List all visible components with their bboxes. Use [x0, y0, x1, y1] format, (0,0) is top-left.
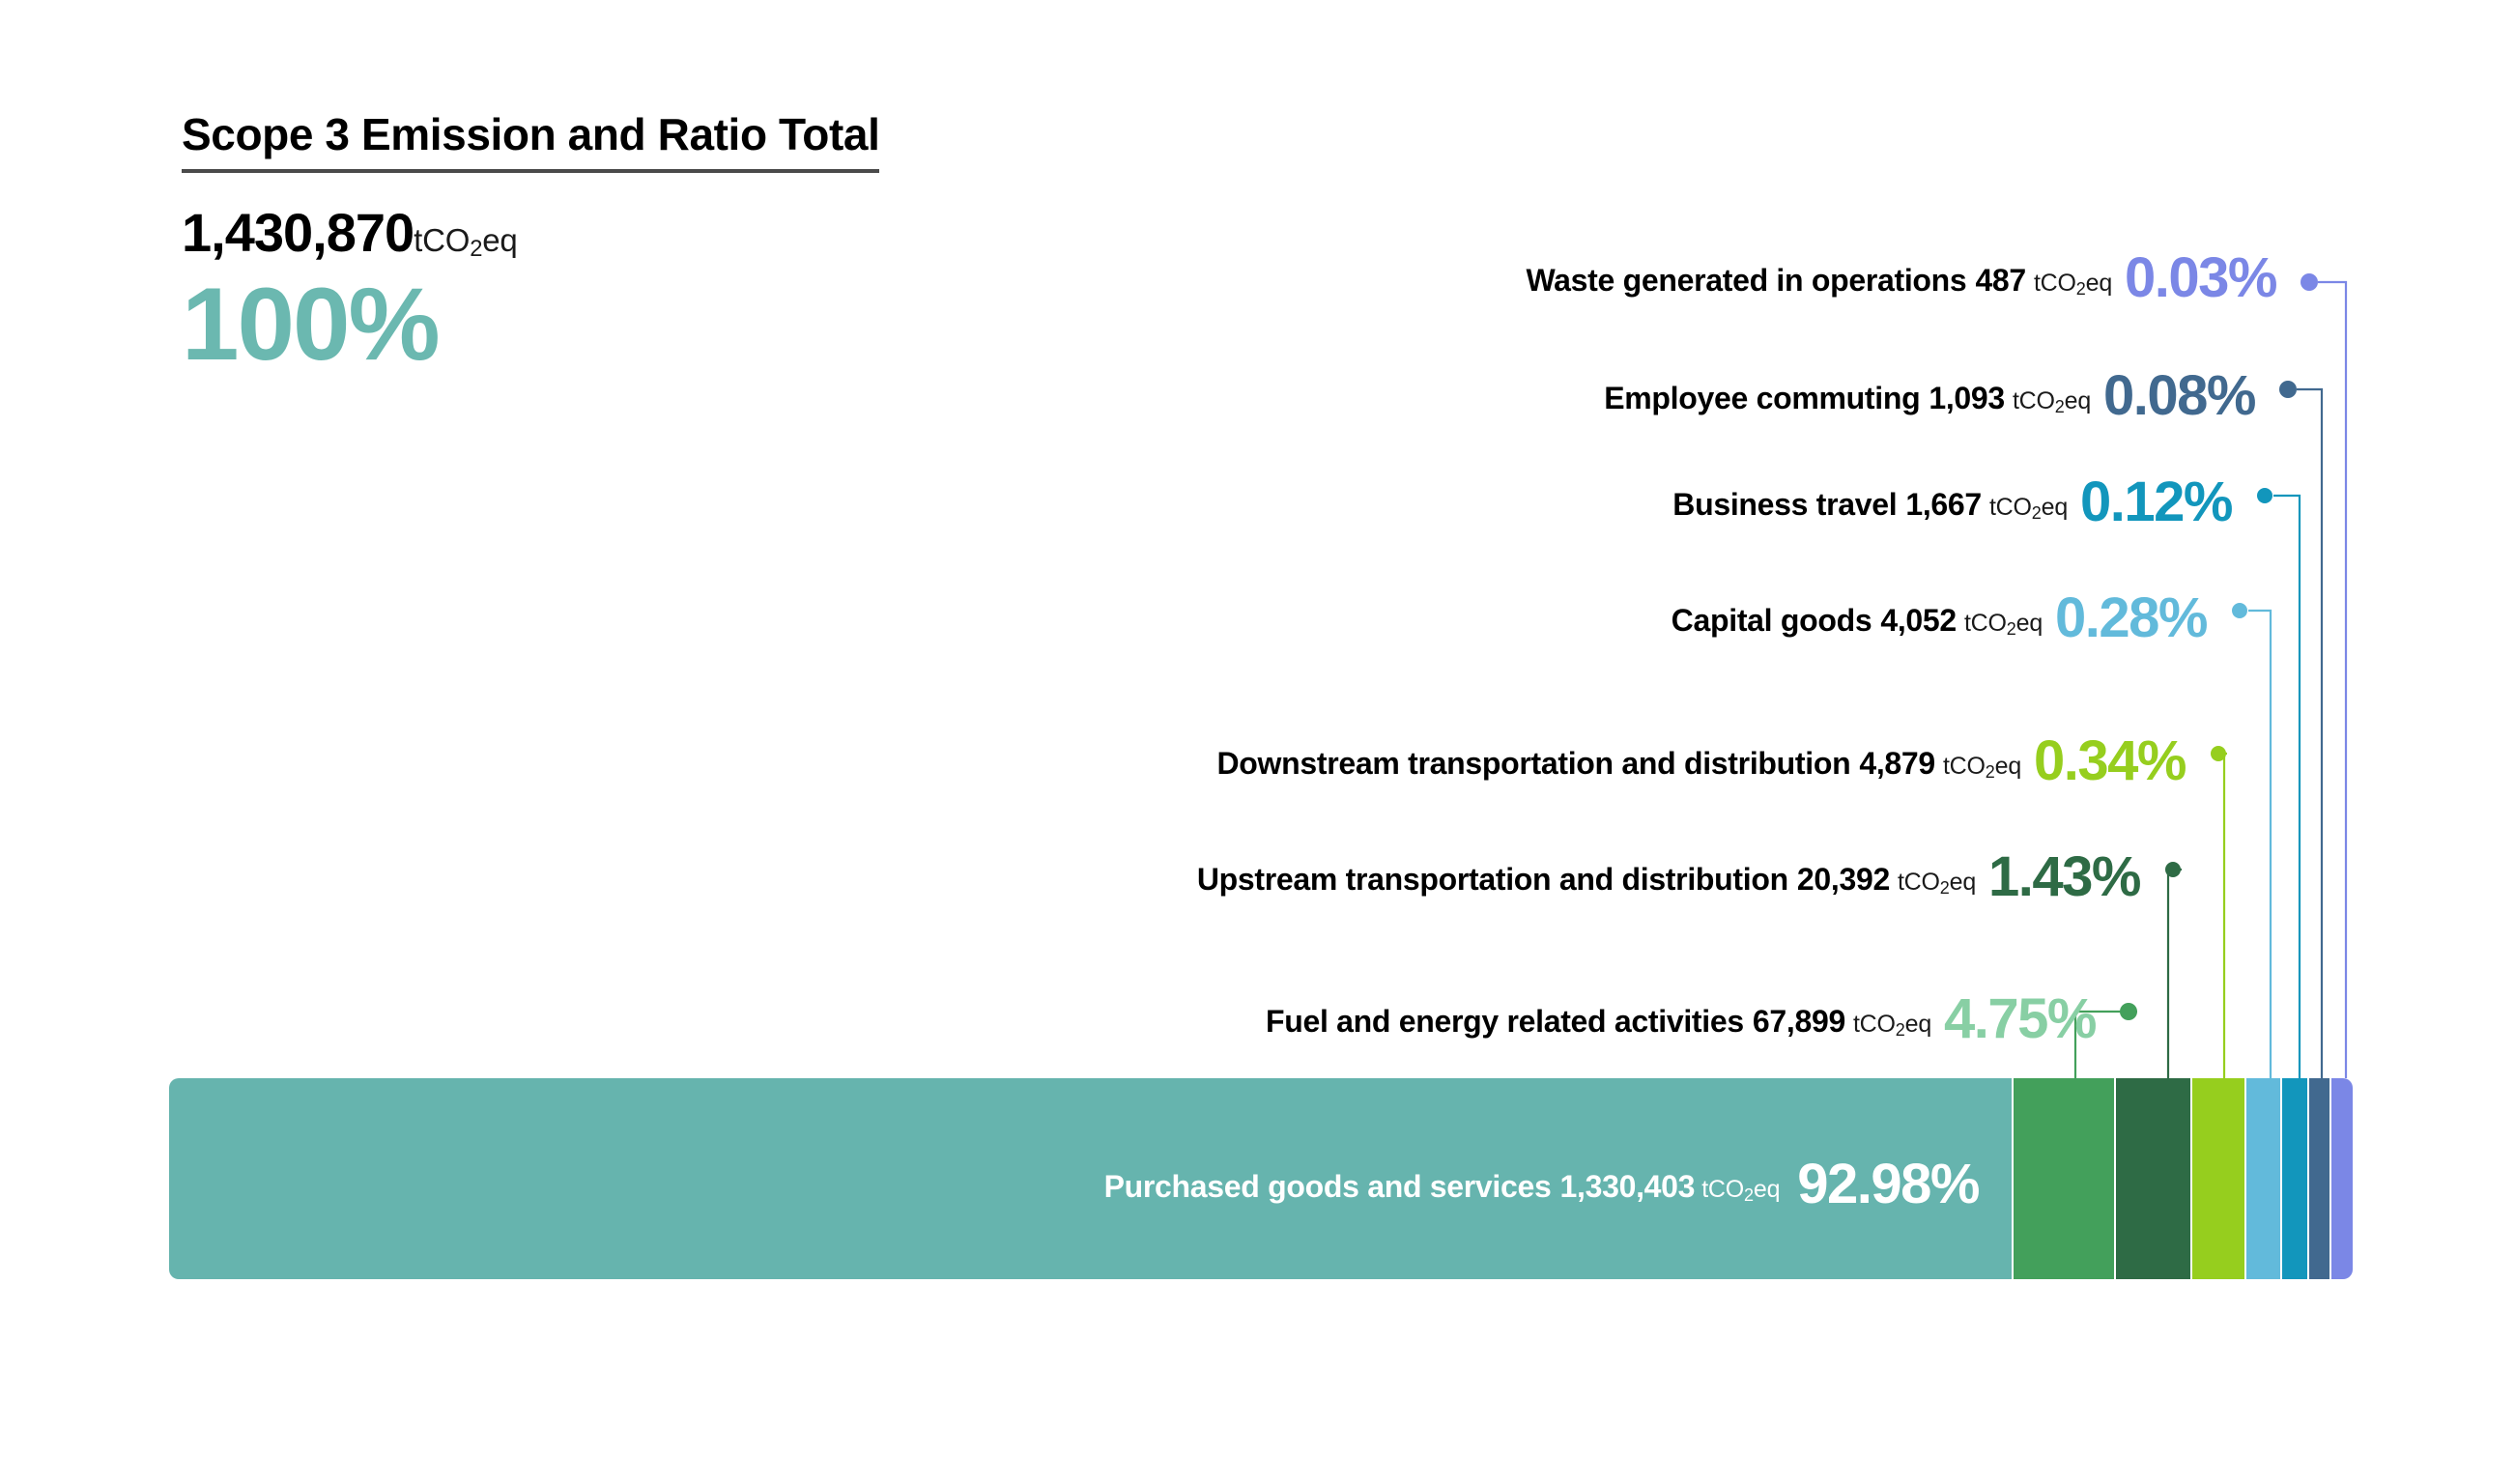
bar-segment[interactable] [2014, 1078, 2116, 1279]
leader-line [2273, 496, 2300, 1078]
emission-unit: tCO2eq [1989, 496, 2068, 522]
callout-value: 487 [1975, 265, 2026, 296]
callout-category-label: Fuel and energy related activities [1266, 1006, 1744, 1037]
callout-category-label: Business travel [1672, 489, 1897, 520]
leader-dot [2232, 603, 2247, 618]
bar-segment[interactable]: Purchased goods and services1,330,403tCO… [169, 1078, 2014, 1279]
callout-category-label: Employee commuting [1604, 383, 1920, 414]
leader-dot [2165, 862, 2181, 877]
total-emission-row: 1,430,870tCO2eq [182, 206, 1148, 261]
callout-percent: 1.43% [1988, 849, 2140, 905]
leader-line [2168, 870, 2182, 1078]
leader-dot [2211, 746, 2226, 761]
leader-line [2248, 611, 2271, 1078]
callout-category-label: Capital goods [1672, 605, 1872, 636]
bar-segment[interactable] [2331, 1078, 2353, 1279]
bar-segment[interactable] [2309, 1078, 2331, 1279]
emission-unit: tCO2eq [2013, 389, 2091, 415]
bar-segment[interactable] [2246, 1078, 2282, 1279]
total-percent: 100% [182, 272, 1148, 376]
callout-row: Fuel and energy related activities67,899… [1266, 985, 2096, 1042]
total-emission-unit: tCO2eq [414, 222, 517, 258]
stacked-bar-chart: Purchased goods and services1,330,403tCO… [169, 1078, 2353, 1279]
emission-unit: tCO2eq [1898, 870, 1976, 897]
callout-row: Waste generated in operations487tCO2eq0.… [1526, 244, 2276, 300]
callout-row: Business travel1,667tCO2eq0.12% [1672, 469, 2232, 525]
leader-dot [2279, 381, 2297, 398]
callout-value: 1,093 [1929, 383, 2005, 414]
leader-line [2297, 389, 2322, 1078]
callout-percent: 0.03% [2125, 250, 2276, 306]
callout-value: 4,879 [1859, 748, 1935, 779]
callout-percent: 4.75% [1944, 991, 2096, 1047]
callout-category-label: Waste generated in operations [1526, 265, 1966, 296]
emission-unit: tCO2eq [1964, 612, 2043, 638]
bar-segment[interactable] [2116, 1078, 2192, 1279]
callout-percent: 0.12% [2080, 474, 2232, 530]
callout-percent: 0.34% [2034, 733, 2186, 789]
callout-percent: 0.28% [2055, 590, 2207, 646]
callout-category-label: Downstream transportation and distributi… [1216, 748, 1850, 779]
emission-unit: tCO2eq [1943, 755, 2021, 781]
header-block: Scope 3 Emission and Ratio Total 1,430,8… [182, 108, 1148, 376]
bar-segment[interactable] [2282, 1078, 2309, 1279]
bar-segment-label: Purchased goods and services1,330,403tCO… [1104, 1151, 1979, 1207]
leader-dot [2301, 273, 2318, 291]
emission-unit: tCO2eq [2034, 271, 2112, 298]
emission-unit: tCO2eq [1701, 1178, 1780, 1204]
callout-value: 20,392 [1797, 864, 1890, 895]
callout-value: 1,667 [1905, 489, 1982, 520]
page-title: Scope 3 Emission and Ratio Total [182, 108, 879, 173]
bar-segment-category: Purchased goods and services [1104, 1171, 1552, 1202]
leader-dot [2257, 488, 2272, 503]
bar-segment-percent: 92.98% [1797, 1156, 1979, 1213]
callout-row: Downstream transportation and distributi… [1216, 728, 2186, 784]
callout-category-label: Upstream transportation and distribution [1197, 864, 1788, 895]
emission-unit: tCO2eq [1853, 1013, 1931, 1039]
leader-line [2318, 282, 2346, 1078]
callout-percent: 0.08% [2103, 368, 2255, 424]
callout-row: Capital goods4,052tCO2eq0.28% [1672, 585, 2207, 641]
callout-value: 67,899 [1753, 1006, 1845, 1037]
callout-row: Upstream transportation and distribution… [1197, 843, 2140, 899]
callout-row: Employee commuting1,093tCO2eq0.08% [1604, 362, 2255, 418]
callout-value: 4,052 [1880, 605, 1957, 636]
bar-segment[interactable] [2192, 1078, 2246, 1279]
leader-line [2224, 754, 2227, 1078]
leader-dot [2120, 1003, 2137, 1020]
bar-segment-value: 1,330,403 [1560, 1171, 1696, 1202]
total-emission-value: 1,430,870 [182, 202, 414, 263]
